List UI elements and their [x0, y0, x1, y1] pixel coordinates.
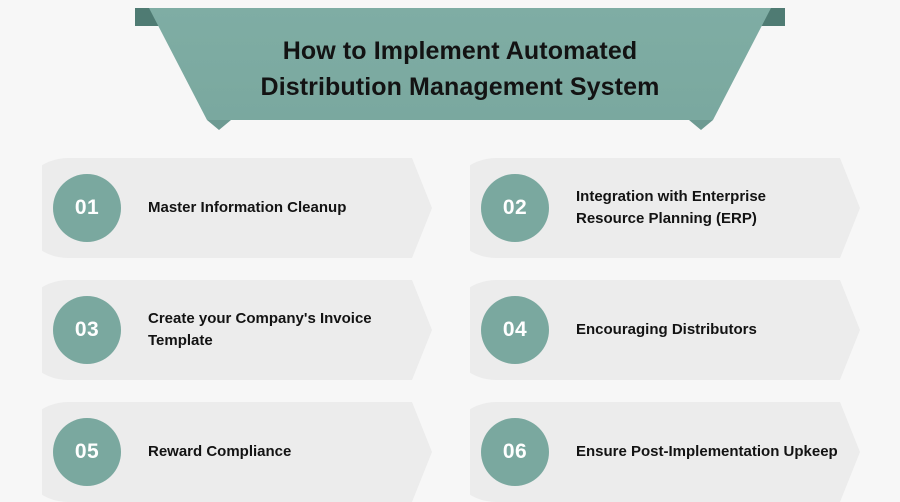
step-item-01[interactable]: 01 Master Information Cleanup	[42, 158, 432, 258]
step-number: 05	[53, 418, 121, 486]
step-number: 06	[481, 418, 549, 486]
step-number: 01	[53, 174, 121, 242]
step-badge: 05	[45, 410, 129, 494]
step-label: Integration with Enterprise Resource Pla…	[576, 158, 838, 258]
step-badge: 01	[45, 166, 129, 250]
step-badge: 06	[473, 410, 557, 494]
step-label: Master Information Cleanup	[148, 158, 410, 258]
step-item-04[interactable]: 04 Encouraging Distributors	[470, 280, 860, 380]
infographic-canvas: How to Implement Automated Distribution …	[0, 0, 900, 500]
step-number: 04	[481, 296, 549, 364]
step-badge: 04	[473, 288, 557, 372]
banner-title-line-1: How to Implement Automated	[283, 37, 637, 65]
step-item-03[interactable]: 03 Create your Company's Invoice Templat…	[42, 280, 432, 380]
step-label: Create your Company's Invoice Template	[148, 280, 410, 380]
step-label: Ensure Post-Implementation Upkeep	[576, 402, 838, 502]
step-label: Reward Compliance	[148, 402, 410, 502]
banner-title: How to Implement Automated Distribution …	[135, 34, 785, 105]
step-item-05[interactable]: 05 Reward Compliance	[42, 402, 432, 502]
banner-title-line-2: Distribution Management System	[135, 70, 785, 106]
step-label: Encouraging Distributors	[576, 280, 838, 380]
steps-grid: 01 Master Information Cleanup 02 Integra…	[42, 158, 860, 502]
step-number: 03	[53, 296, 121, 364]
step-badge: 03	[45, 288, 129, 372]
step-item-02[interactable]: 02 Integration with Enterprise Resource …	[470, 158, 860, 258]
step-number: 02	[481, 174, 549, 242]
step-badge: 02	[473, 166, 557, 250]
title-banner: How to Implement Automated Distribution …	[135, 8, 785, 130]
step-item-06[interactable]: 06 Ensure Post-Implementation Upkeep	[470, 402, 860, 502]
